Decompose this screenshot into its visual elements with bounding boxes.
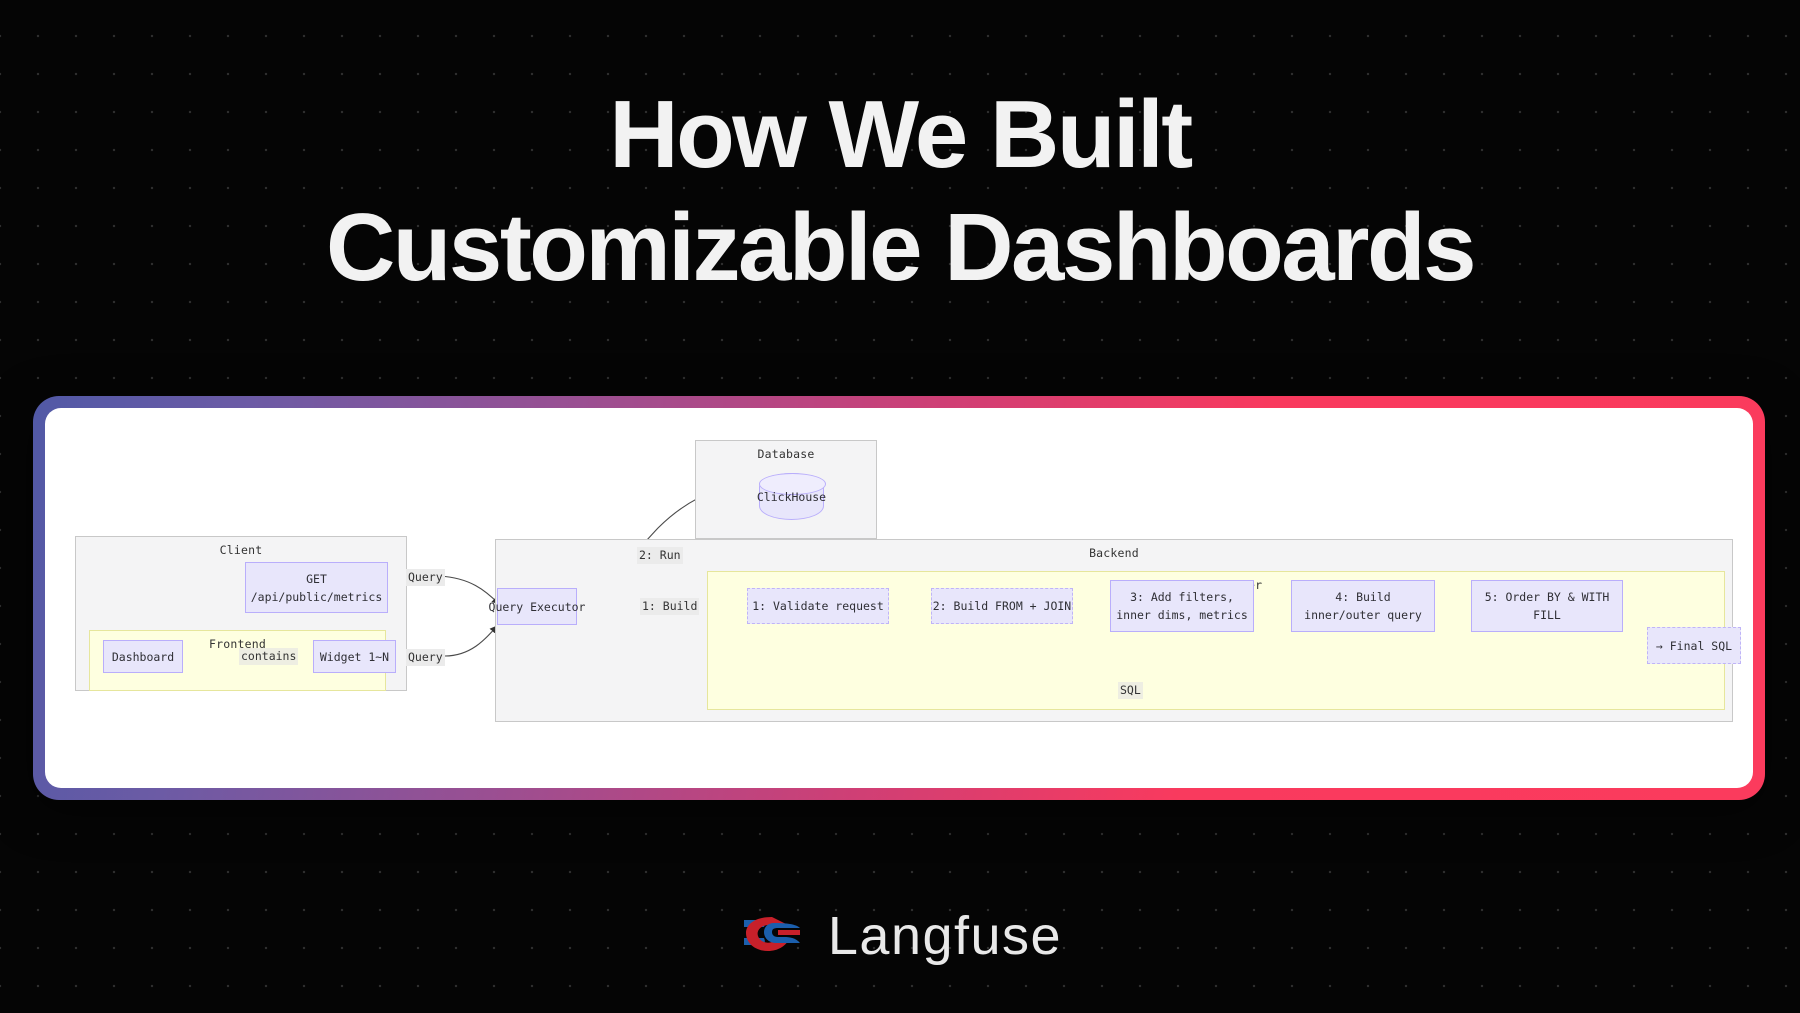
node-dashboard[interactable]: Dashboard [103, 640, 183, 673]
node-get-endpoint-method: GET [306, 570, 327, 588]
page-title: How We Built Customizable Dashboards [0, 78, 1800, 304]
langfuse-logo-icon [738, 911, 806, 961]
node-step-4[interactable]: 4: Build inner/outer query [1291, 580, 1435, 632]
edge-label-build: 1: Build [640, 598, 699, 615]
edge-label-run: 2: Run [637, 547, 683, 564]
node-step-3-line-1: 3: Add filters, [1130, 588, 1234, 606]
node-query-executor[interactable]: Query Executor [497, 588, 577, 625]
node-step-4-line-2: inner/outer query [1304, 606, 1422, 624]
node-step-3[interactable]: 3: Add filters, inner dims, metrics [1110, 580, 1254, 632]
gradient-card-frame: Database ClickHouse Client GET /api/publ… [33, 396, 1765, 800]
node-get-endpoint-path: /api/public/metrics [251, 588, 383, 606]
node-step-2[interactable]: 2: Build FROM + JOIN [931, 588, 1073, 624]
node-step-1[interactable]: 1: Validate request [747, 588, 889, 624]
node-step-1-label: 1: Validate request [752, 597, 884, 615]
node-clickhouse[interactable]: ClickHouse [759, 473, 824, 520]
node-get-endpoint[interactable]: GET /api/public/metrics [245, 562, 388, 613]
group-client-label: Client [76, 543, 406, 557]
node-clickhouse-label: ClickHouse [757, 490, 826, 504]
edge-label-query-bottom: Query [406, 649, 445, 666]
architecture-diagram: Database ClickHouse Client GET /api/publ… [45, 408, 1753, 788]
footer-brand: Langfuse [0, 905, 1800, 967]
node-dashboard-label: Dashboard [112, 648, 174, 666]
node-widget-label: Widget 1~N [320, 648, 389, 666]
edge-label-contains: contains [239, 648, 298, 665]
group-database-label: Database [696, 447, 876, 461]
title-line-2: Customizable Dashboards [0, 191, 1800, 304]
node-step-3-line-2: inner dims, metrics [1116, 606, 1248, 624]
node-final-sql-label: → Final SQL [1656, 637, 1732, 655]
node-step-5[interactable]: 5: Order BY & WITH FILL [1471, 580, 1623, 632]
brand-name: Langfuse [828, 905, 1062, 967]
edge-label-query-top: Query [406, 569, 445, 586]
node-step-5-line-2: FILL [1533, 606, 1561, 624]
node-step-5-line-1: 5: Order BY & WITH [1485, 588, 1610, 606]
node-step-2-label: 2: Build FROM + JOIN [933, 597, 1071, 615]
node-widget[interactable]: Widget 1~N [313, 640, 396, 673]
node-query-executor-label: Query Executor [489, 598, 586, 616]
title-line-1: How We Built [0, 78, 1800, 191]
edge-label-sql: SQL [1118, 682, 1143, 699]
node-final-sql[interactable]: → Final SQL [1647, 627, 1741, 664]
page-root: How We Built Customizable Dashboards [0, 0, 1800, 1013]
node-step-4-line-1: 4: Build [1335, 588, 1390, 606]
diagram-panel: Database ClickHouse Client GET /api/publ… [45, 408, 1753, 788]
